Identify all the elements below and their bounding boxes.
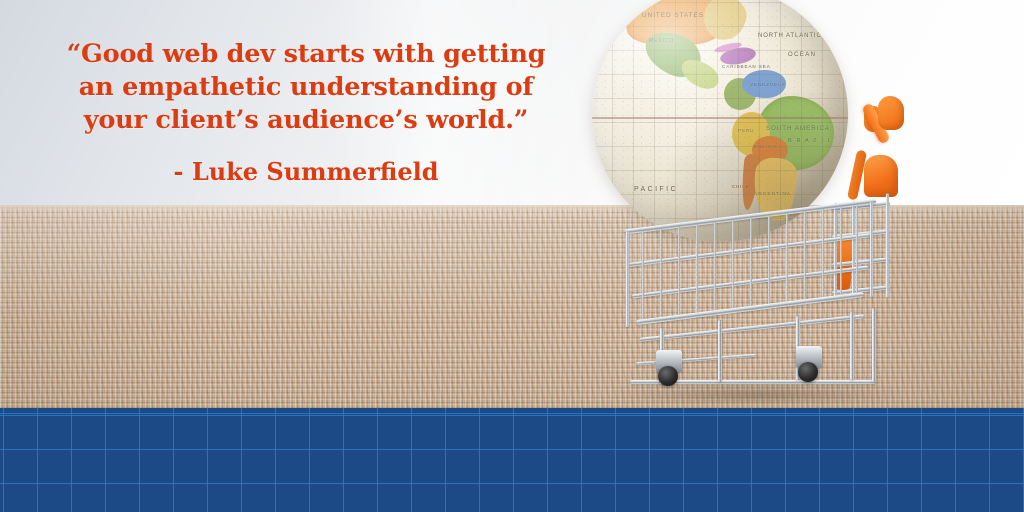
quote-line-3: your client’s audience’s world.” [36,104,576,137]
cart-wheel-right [798,362,818,382]
quote-line-2: an empathetic understanding of [36,71,576,104]
quote-block: “Good web dev starts with getting an emp… [36,38,576,186]
blueprint-banner: Build a Better AGENCY [0,408,1024,512]
basket-right-post [870,201,873,297]
cart-wheel-left [658,366,678,386]
cart-leg-mid-left [718,320,722,382]
cart-leg-rear-right [850,312,854,380]
quote-attribution: - Luke Summerfield [36,157,576,186]
cart-chassis-brace [636,354,756,365]
basket-left-post [626,231,629,327]
cart-leg-far-right [872,308,876,382]
cart-handle-knob [878,96,904,130]
quote-line-1: “Good web dev starts with getting [36,38,576,71]
shopping-cart [600,208,920,410]
promo-graphic: UNITED STATES MEXICO NORTH ATLANTIC OCEA… [0,0,1024,512]
